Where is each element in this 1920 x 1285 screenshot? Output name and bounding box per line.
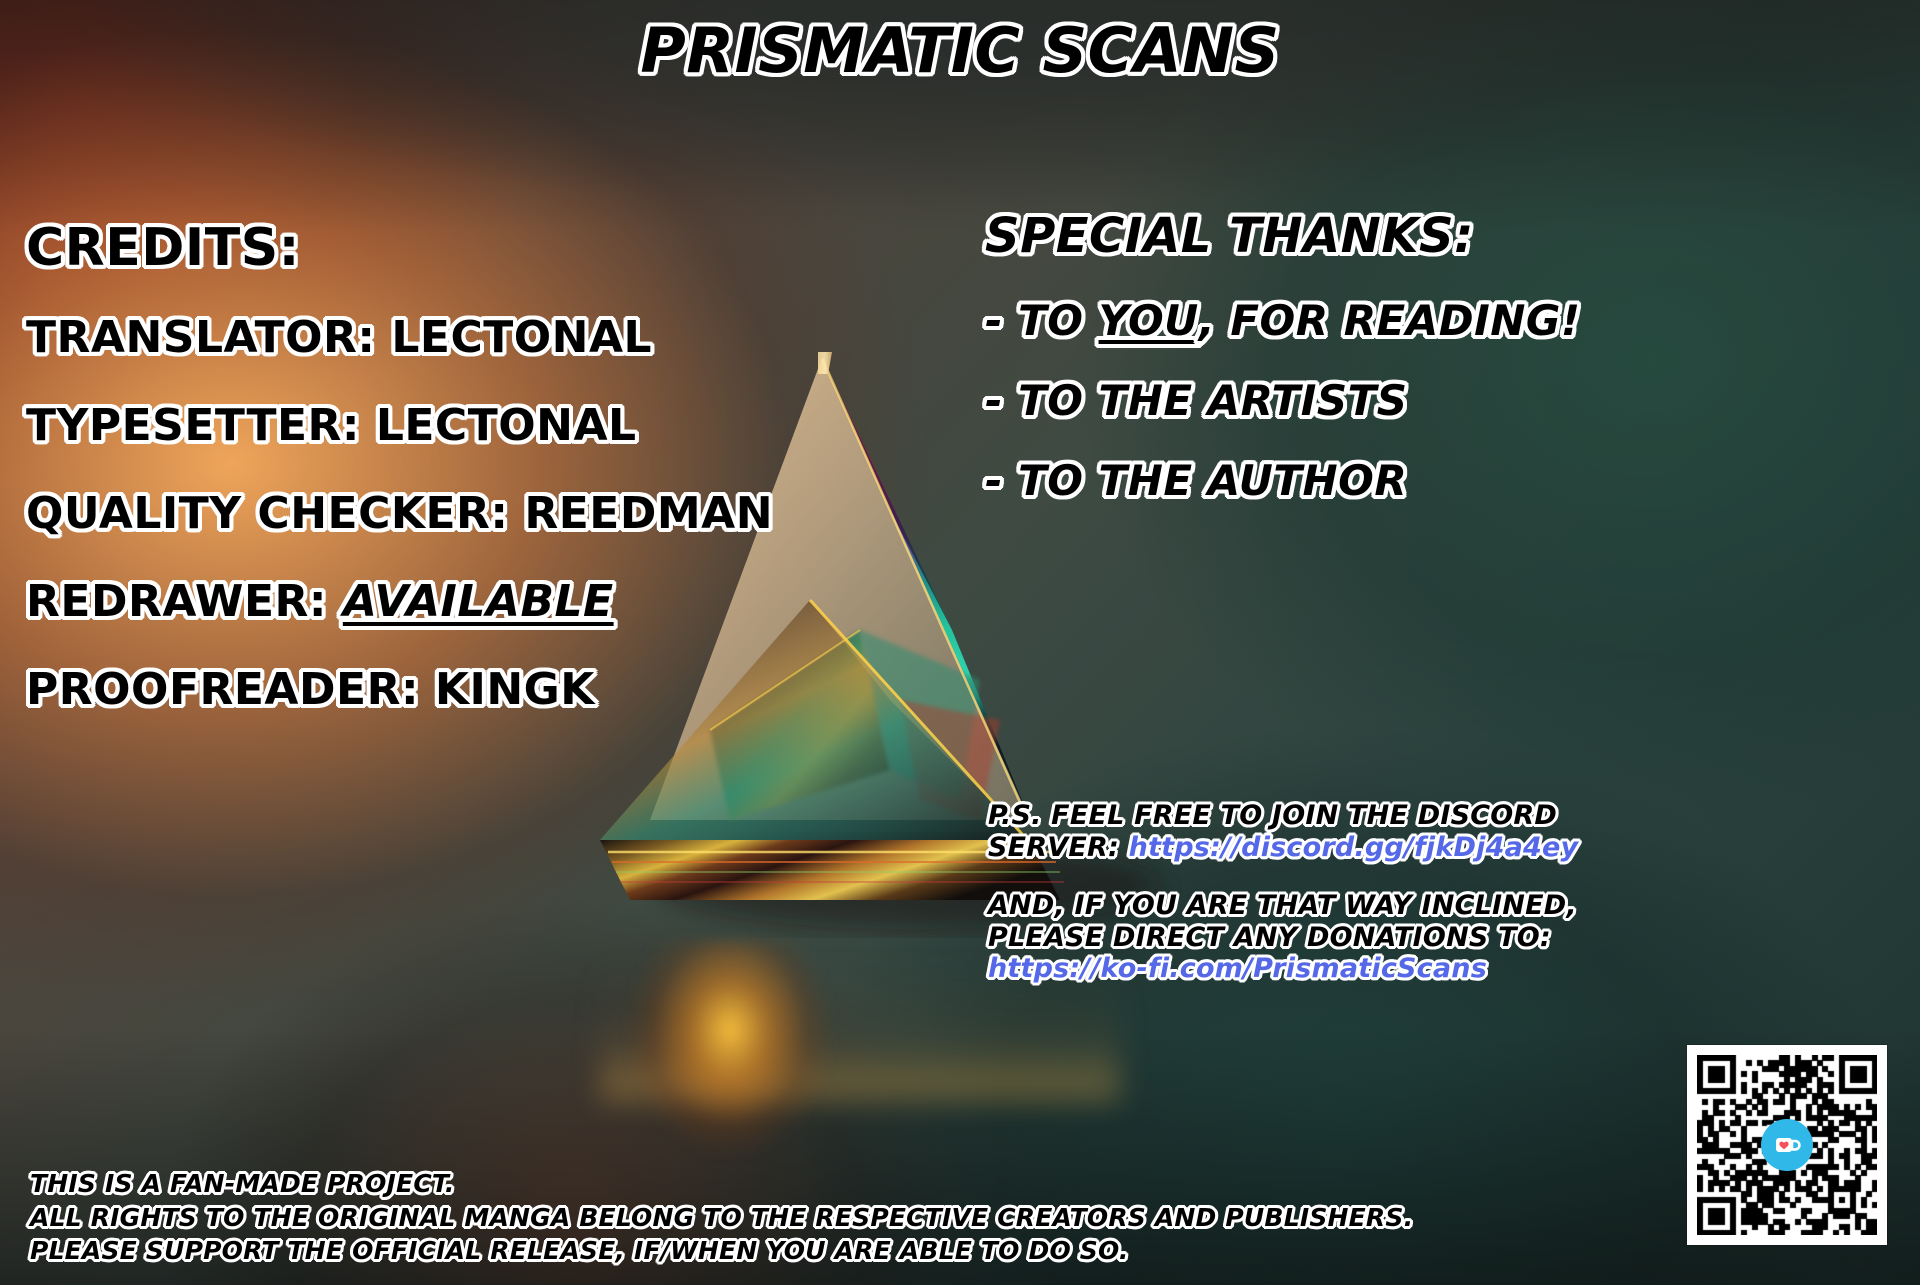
disclaimer-line-1: THIS IS A FAN-MADE PROJECT. bbox=[30, 1167, 1650, 1200]
credit-name-typesetter: LECTONAL bbox=[376, 400, 637, 451]
credit-role-redrawer: REDRAWER: bbox=[26, 576, 327, 627]
special-thanks-section: SPECIAL THANKS: - TO YOU, FOR READING! -… bbox=[985, 212, 1885, 540]
credits-heading: CREDITS: bbox=[26, 222, 726, 274]
credit-name-translator: LECTONAL bbox=[391, 312, 652, 363]
kofi-cup-heart-icon bbox=[1761, 1119, 1813, 1171]
thanks-item-artists: - TO THE ARTISTS bbox=[985, 380, 1885, 422]
disclaimer-line-3: PLEASE SUPPORT THE OFFICIAL RELEASE, IF/… bbox=[30, 1234, 1650, 1267]
links-section: P.S. FEEL FREE TO JOIN THE DISCORD SERVE… bbox=[988, 800, 1888, 985]
thanks-suffix: , FOR READING! bbox=[1199, 296, 1581, 345]
credit-row-quality-checker: QUALITY CHECKER: REEDMAN bbox=[26, 492, 726, 536]
credit-row-proofreader: PROOFREADER: KINGK bbox=[26, 668, 726, 712]
credit-name-proofreader: KINGK bbox=[435, 664, 595, 715]
disclaimer-line-2: ALL RIGHTS TO THE ORIGINAL MANGA BELONG … bbox=[30, 1201, 1650, 1234]
kofi-url-link[interactable]: https://ko-fi.com/PrismaticScans bbox=[988, 953, 1888, 985]
thanks-label-artists: TO THE ARTISTS bbox=[1018, 376, 1407, 425]
credit-role-proofreader: PROOFREADER: bbox=[26, 664, 419, 715]
credits-section: CREDITS: TRANSLATOR: LECTONAL TYPESETTER… bbox=[26, 222, 726, 712]
thanks-item-author: - TO THE AUTHOR bbox=[985, 460, 1885, 502]
links-spacer bbox=[988, 864, 1888, 890]
donation-line-1: AND, IF YOU ARE THAT WAY INCLINED, bbox=[988, 890, 1888, 922]
discord-server-label: SERVER: bbox=[988, 832, 1129, 863]
credit-role-quality-checker: QUALITY CHECKER: bbox=[26, 488, 509, 539]
thanks-bullet: - bbox=[985, 376, 1003, 425]
credit-role-typesetter: TYPESETTER: bbox=[26, 400, 360, 451]
disclaimer-section: THIS IS A FAN-MADE PROJECT. ALL RIGHTS T… bbox=[30, 1167, 1650, 1267]
discord-url-link[interactable]: https://discord.gg/fjkDj4a4ey bbox=[1129, 832, 1579, 863]
discord-invite-line: P.S. FEEL FREE TO JOIN THE DISCORD bbox=[988, 800, 1888, 832]
thanks-bullet: - bbox=[985, 456, 1003, 505]
credit-row-translator: TRANSLATOR: LECTONAL bbox=[26, 316, 726, 360]
page-title: PRISMATIC SCANS bbox=[0, 18, 1920, 83]
thanks-label-author: TO THE AUTHOR bbox=[1018, 456, 1407, 505]
thanks-emphasis-you: YOU bbox=[1099, 296, 1199, 345]
credit-row-typesetter: TYPESETTER: LECTONAL bbox=[26, 404, 726, 448]
credit-name-redrawer: AVAILABLE bbox=[343, 576, 614, 627]
credits-page: PRISMATIC SCANS CREDITS: TRANSLATOR: LEC… bbox=[0, 0, 1920, 1285]
ko-fi-qr-code[interactable] bbox=[1687, 1045, 1887, 1245]
thanks-item-you: - TO YOU, FOR READING! bbox=[985, 300, 1885, 342]
special-thanks-heading: SPECIAL THANKS: bbox=[985, 212, 1885, 260]
thanks-prefix: TO bbox=[1018, 296, 1098, 345]
thanks-bullet: - bbox=[985, 296, 1003, 345]
credit-name-quality-checker: REEDMAN bbox=[524, 488, 773, 539]
discord-server-line: SERVER: https://discord.gg/fjkDj4a4ey bbox=[988, 832, 1888, 864]
credit-role-translator: TRANSLATOR: bbox=[26, 312, 376, 363]
donation-line-2: PLEASE DIRECT ANY DONATIONS TO: bbox=[988, 922, 1888, 954]
credit-row-redrawer: REDRAWER: AVAILABLE bbox=[26, 580, 726, 624]
